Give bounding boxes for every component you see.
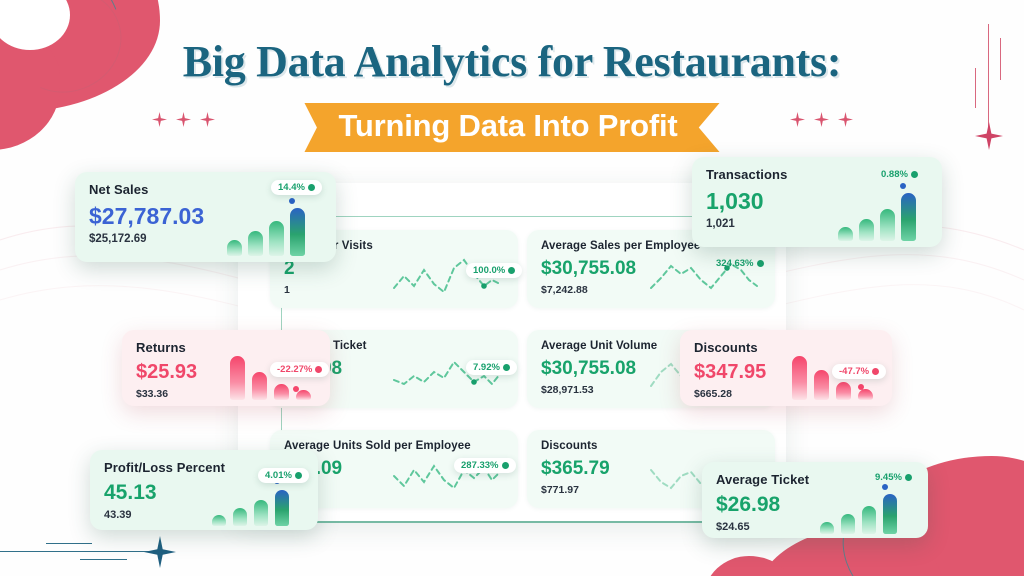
kpi-change-value: 14.4% xyxy=(278,182,305,193)
kpi-bar-chart xyxy=(838,189,916,241)
bar-current-dot xyxy=(293,386,299,392)
kpi-change-badge: 324.63% xyxy=(709,256,771,271)
bar xyxy=(836,382,851,400)
kpi-change-value: 100.0% xyxy=(473,265,505,276)
bar xyxy=(814,370,829,400)
bar xyxy=(254,500,268,526)
kpi-change-badge: 9.45% xyxy=(868,470,919,485)
kpi-change-badge: 100.0% xyxy=(466,263,522,278)
bar-current xyxy=(883,494,897,534)
bar xyxy=(880,209,895,241)
kpi-bar-chart xyxy=(227,204,305,256)
decor-line-horizontal-upper xyxy=(46,543,92,544)
kpi-card-net-sales[interactable]: Net Sales $27,787.03 $25,172.69 14.4% xyxy=(75,172,336,262)
kpi-change-value: 324.63% xyxy=(716,258,754,269)
bar xyxy=(233,508,247,526)
info-icon xyxy=(295,472,302,479)
bar-current xyxy=(290,208,305,256)
info-icon xyxy=(905,474,912,481)
kpi-card-discounts-float[interactable]: Discounts $347.95 $665.28 -47.7% xyxy=(680,330,892,406)
bar xyxy=(212,515,226,526)
info-icon xyxy=(508,267,515,274)
decor-star-teal-left xyxy=(144,536,176,568)
bar xyxy=(792,356,807,400)
info-icon xyxy=(757,260,764,267)
bar xyxy=(248,231,263,256)
subtitle-ribbon: Turning Data Into Profit xyxy=(304,103,719,152)
page-title: Big Data Analytics for Restaurants: xyxy=(0,36,1024,87)
bar-current xyxy=(275,490,289,526)
decor-sparkles-left xyxy=(152,112,215,127)
decor-line-horizontal-main xyxy=(0,551,150,552)
kpi-change-badge: 287.33% xyxy=(454,458,516,473)
subtitle-ribbon-wrap: Turning Data Into Profit xyxy=(0,103,1024,152)
bar-current xyxy=(901,193,916,241)
bar xyxy=(820,522,834,534)
kpi-change-badge: -22.27% xyxy=(270,362,329,377)
kpi-change-value: 9.45% xyxy=(875,472,902,483)
kpi-change-value: 0.88% xyxy=(881,169,908,180)
kpi-bar-chart xyxy=(820,490,897,534)
info-icon xyxy=(503,364,510,371)
kpi-card-average-ticket-float[interactable]: Average Ticket $26.98 $24.65 9.45% xyxy=(702,462,928,538)
kpi-title: Discounts xyxy=(541,440,761,452)
info-icon xyxy=(308,184,315,191)
poster-canvas: Big Data Analytics for Restaurants: Turn… xyxy=(0,0,1024,576)
kpi-change-badge: 14.4% xyxy=(271,180,322,195)
bar xyxy=(227,240,242,256)
decor-sparkles-right xyxy=(790,112,853,127)
info-icon xyxy=(502,462,509,469)
info-icon xyxy=(911,171,918,178)
bar xyxy=(859,219,874,241)
info-icon xyxy=(315,366,322,373)
kpi-card-transactions[interactable]: Transactions 1,030 1,021 0.88% xyxy=(692,157,942,247)
kpi-title: Average Units Sold per Employee xyxy=(284,440,504,452)
info-icon xyxy=(872,368,879,375)
kpi-change-badge: 4.01% xyxy=(258,468,309,483)
bar xyxy=(841,514,855,534)
bar xyxy=(269,221,284,256)
decor-line-horizontal-lower xyxy=(80,559,127,560)
kpi-change-value: 287.33% xyxy=(461,460,499,471)
bar xyxy=(230,356,245,400)
kpi-change-value: -22.27% xyxy=(277,364,312,375)
bar xyxy=(838,227,853,241)
kpi-card-returns[interactable]: Returns $25.93 $33.36 -22.27% xyxy=(122,330,330,406)
kpi-change-badge: -47.7% xyxy=(832,364,886,379)
bar-current xyxy=(296,390,311,400)
kpi-change-value: -47.7% xyxy=(839,366,869,377)
bar-current-dot xyxy=(289,198,295,204)
bar-current xyxy=(858,389,873,400)
bar xyxy=(274,384,289,400)
kpi-change-badge: 0.88% xyxy=(874,167,925,182)
bar xyxy=(862,506,876,534)
kpi-change-value: 7.92% xyxy=(473,362,500,373)
bar xyxy=(252,372,267,400)
kpi-change-badge: 7.92% xyxy=(466,360,517,375)
bar-current-dot xyxy=(858,384,864,390)
kpi-change-value: 4.01% xyxy=(265,470,292,481)
kpi-card-profit-loss-percent[interactable]: Profit/Loss Percent 45.13 43.39 4.01% xyxy=(90,450,318,530)
bar-current-dot xyxy=(900,183,906,189)
kpi-bar-chart xyxy=(212,484,289,526)
